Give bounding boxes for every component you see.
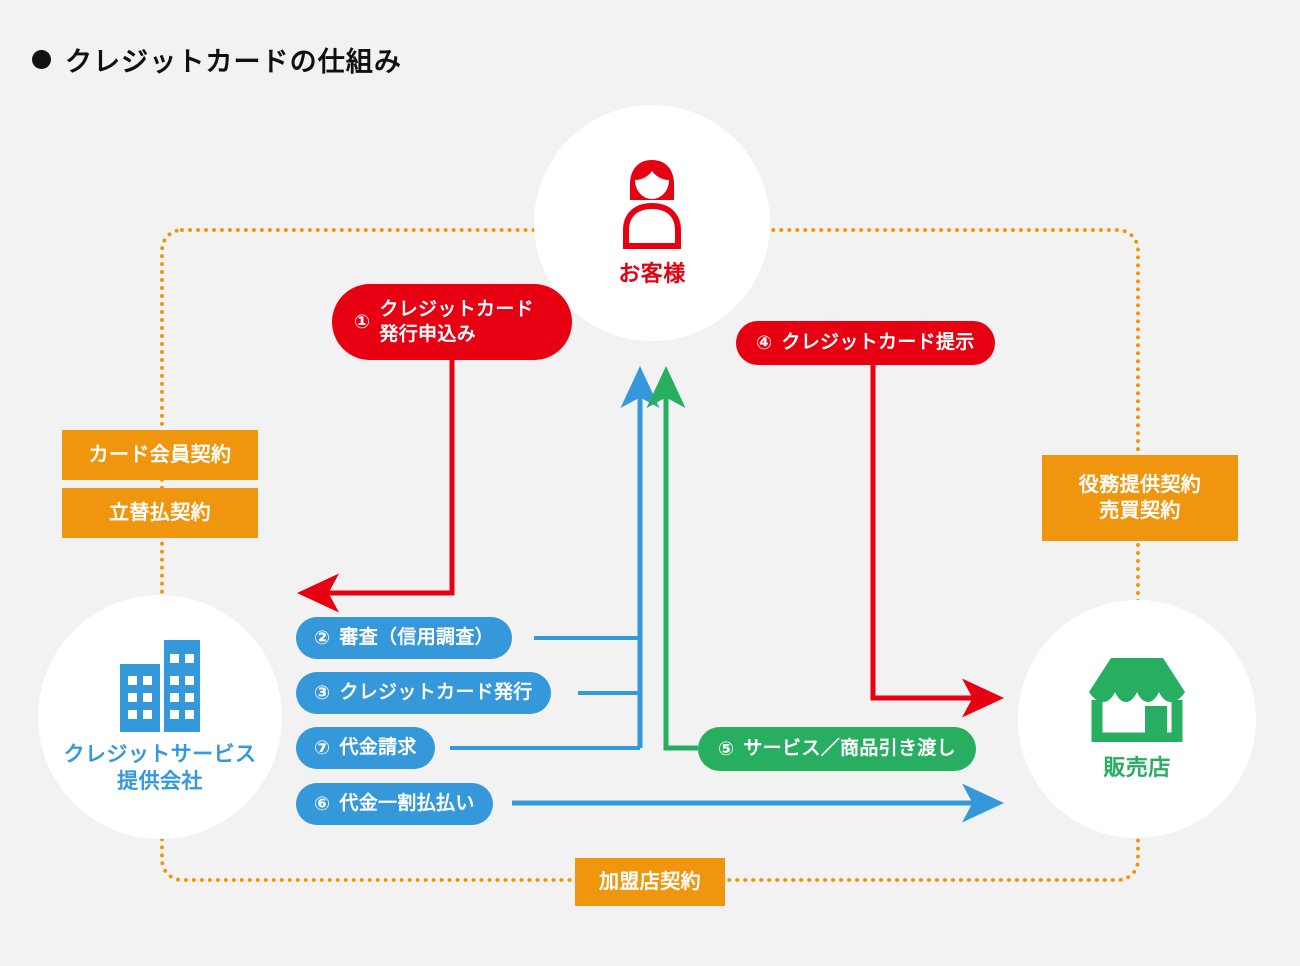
step-7-number: ⑦ (314, 739, 330, 758)
contract-box-merchant: 加盟店契約 (575, 858, 725, 906)
step-1-label: クレジットカード 発行申込み (379, 297, 534, 347)
contract-box-member-label: カード会員契約 (89, 442, 232, 468)
step-pill-3[interactable]: ③ クレジットカード発行 (296, 672, 551, 714)
step-pill-6[interactable]: ⑥ 代金一割払払い (296, 783, 493, 825)
step-1-label-line2: 発行申込み (379, 324, 476, 345)
node-shop[interactable]: 販売店 (1018, 600, 1256, 838)
contract-box-advance-payment: 立替払契約 (62, 488, 258, 538)
storefront-icon (1087, 656, 1187, 742)
diagram-canvas: クレジットカードの仕組み (0, 0, 1300, 966)
buildings-icon (118, 638, 202, 734)
step-4-number: ④ (756, 334, 772, 353)
step-6-label: 代金一割払払い (339, 792, 474, 817)
step-6-number: ⑥ (314, 795, 330, 814)
node-provider-label-line2: 提供会社 (64, 769, 257, 796)
step-2-label: 審査（信用調査） (339, 626, 494, 651)
contract-box-service-line2: 売買契約 (1099, 500, 1181, 522)
contract-box-service-sales-label: 役務提供契約 売買契約 (1079, 472, 1201, 524)
step-7-label: 代金請求 (339, 736, 416, 761)
step-4-label: クレジットカード提示 (781, 331, 974, 356)
step-3-label: クレジットカード発行 (339, 681, 532, 706)
contract-box-member: カード会員契約 (62, 430, 258, 480)
node-provider[interactable]: クレジットサービス 提供会社 (38, 595, 282, 839)
step-1-number: ① (354, 313, 370, 332)
wire-step-1 (303, 358, 452, 593)
step-2-number: ② (314, 629, 330, 648)
contract-box-service-sales: 役務提供契約 売買契約 (1042, 455, 1238, 541)
step-pill-5[interactable]: ⑤ サービス／商品引き渡し (698, 727, 976, 771)
node-shop-label: 販売店 (1103, 754, 1170, 782)
wire-step-4 (873, 365, 998, 698)
step-pill-2[interactable]: ② 審査（信用調査） (296, 617, 512, 659)
contract-box-advance-payment-label: 立替払契約 (109, 500, 211, 526)
step-3-number: ③ (314, 684, 330, 703)
customer-person-icon (613, 158, 691, 250)
node-customer-label: お客様 (618, 260, 685, 288)
node-provider-label-line1: クレジットサービス (64, 742, 257, 769)
step-1-label-line1: クレジットカード (379, 299, 534, 320)
step-pill-4[interactable]: ④ クレジットカード提示 (736, 321, 995, 365)
node-provider-label: クレジットサービス 提供会社 (64, 742, 257, 796)
step-5-number: ⑤ (718, 740, 734, 759)
step-pill-1[interactable]: ① クレジットカード 発行申込み (332, 284, 572, 360)
wire-step-5 (666, 372, 698, 748)
node-customer[interactable]: お客様 (534, 105, 770, 341)
step-pill-7[interactable]: ⑦ 代金請求 (296, 727, 435, 769)
contract-box-merchant-label: 加盟店契約 (599, 869, 701, 895)
step-5-label: サービス／商品引き渡し (743, 737, 956, 762)
contract-box-service-line1: 役務提供契約 (1079, 474, 1201, 496)
